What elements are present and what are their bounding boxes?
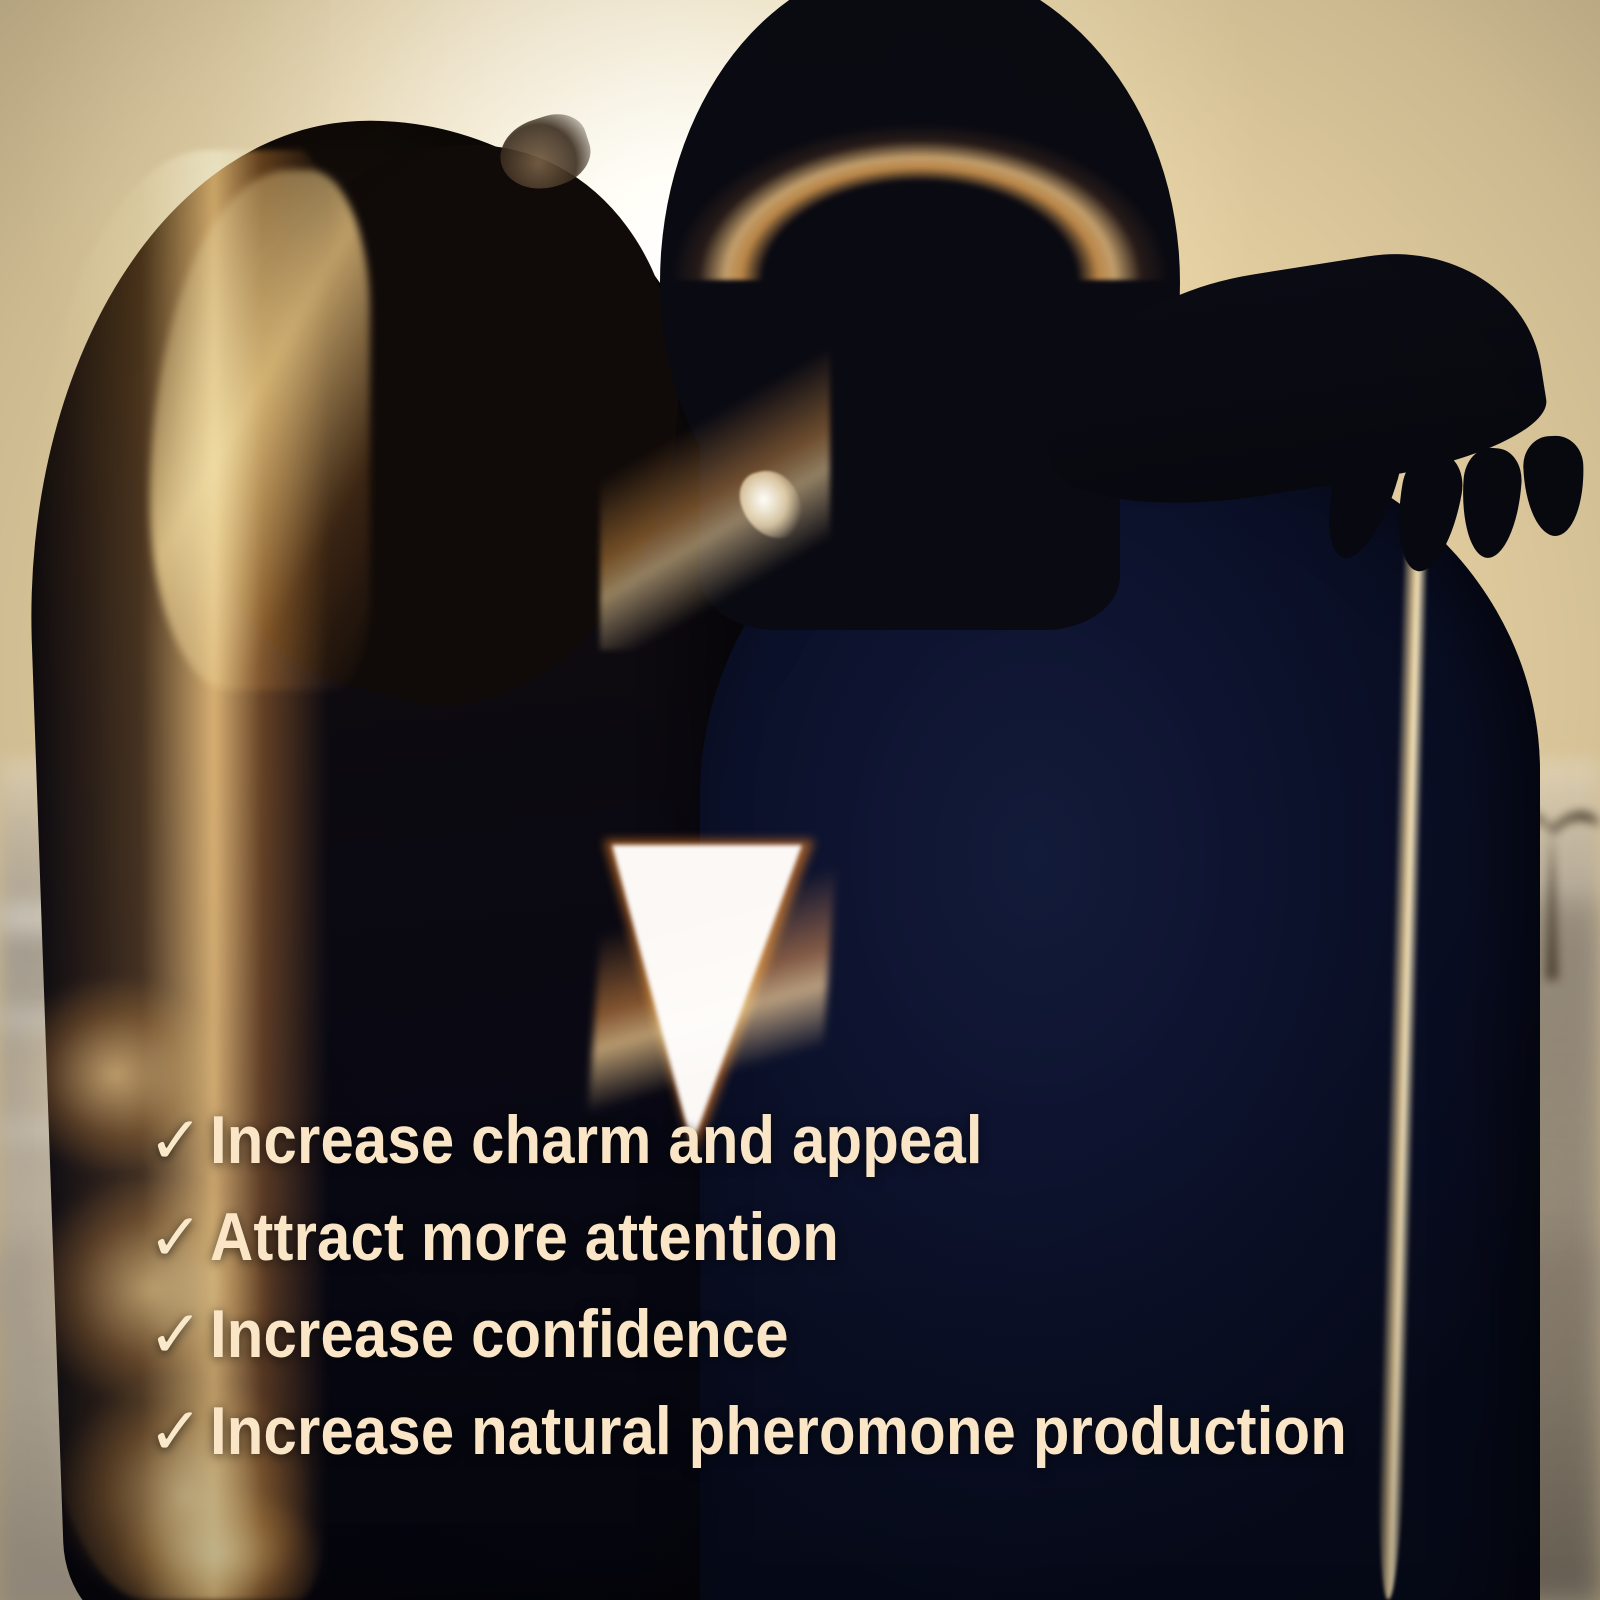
hair-strand xyxy=(120,1490,320,1600)
face-rim-light xyxy=(600,230,830,650)
checkmark-icon: ✓ xyxy=(148,1204,210,1270)
benefit-item-1: ✓ Increase charm and appeal xyxy=(148,1106,1548,1203)
benefit-label: Increase charm and appeal xyxy=(210,1106,983,1174)
benefit-item-2: ✓ Attract more attention xyxy=(148,1203,1548,1300)
benefits-list: ✓ Increase charm and appeal ✓ Attract mo… xyxy=(148,1106,1548,1494)
collar-rim-light xyxy=(587,752,842,1137)
checkmark-icon: ✓ xyxy=(148,1398,210,1464)
checkmark-icon: ✓ xyxy=(148,1107,210,1173)
checkmark-icon: ✓ xyxy=(148,1301,210,1367)
promo-image: ✓ Increase charm and appeal ✓ Attract mo… xyxy=(0,0,1600,1600)
benefit-item-3: ✓ Increase confidence xyxy=(148,1300,1548,1397)
benefit-label: Increase confidence xyxy=(210,1300,789,1368)
benefit-label: Attract more attention xyxy=(210,1203,839,1271)
benefit-label: Increase natural pheromone production xyxy=(210,1397,1347,1465)
benefit-item-4: ✓ Increase natural pheromone production xyxy=(148,1397,1548,1494)
